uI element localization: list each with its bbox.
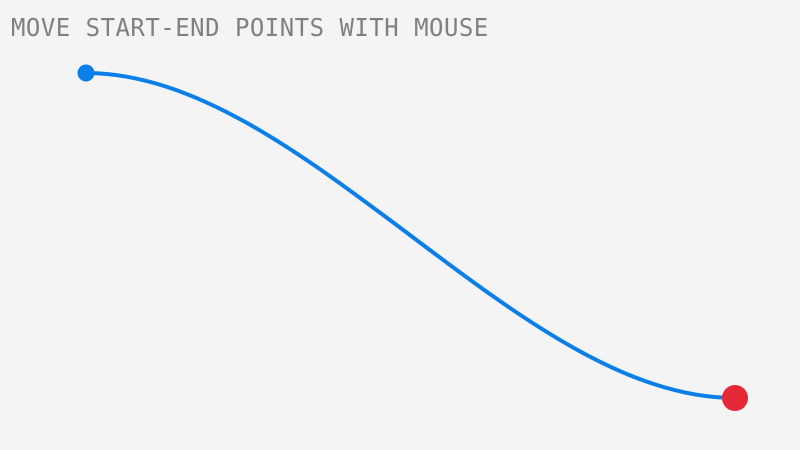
bezier-curve: [86, 73, 735, 398]
end-point-handle[interactable]: [722, 385, 748, 411]
bezier-canvas[interactable]: [0, 0, 800, 450]
start-point-handle[interactable]: [78, 65, 95, 82]
canvas-stage[interactable]: MOVE START-END POINTS WITH MOUSE: [0, 0, 800, 450]
page-title: MOVE START-END POINTS WITH MOUSE: [11, 14, 489, 42]
